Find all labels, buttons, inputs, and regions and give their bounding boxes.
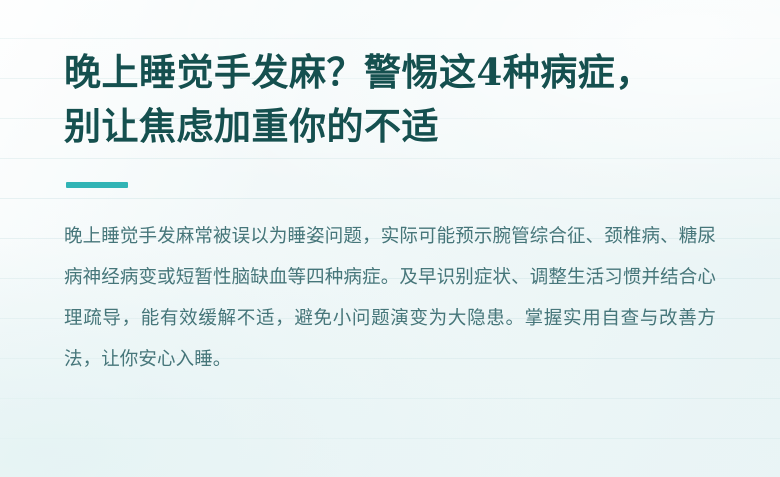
page-title-line-2: 别让焦虑加重你的不适: [64, 100, 716, 154]
article-summary: 晚上睡觉手发麻常被误以为睡姿问题，实际可能预示腕管综合征、颈椎病、糖尿病神经病变…: [64, 188, 716, 379]
page-title-line-1: 晚上睡觉手发麻？警惕这4种病症，: [64, 46, 716, 100]
article-cover-card: 晚上睡觉手发麻？警惕这4种病症， 别让焦虑加重你的不适 晚上睡觉手发麻常被误以为…: [0, 0, 780, 477]
page-title: 晚上睡觉手发麻？警惕这4种病症， 别让焦虑加重你的不适: [64, 0, 716, 153]
cover-content: 晚上睡觉手发麻？警惕这4种病症， 别让焦虑加重你的不适 晚上睡觉手发麻常被误以为…: [0, 0, 780, 380]
